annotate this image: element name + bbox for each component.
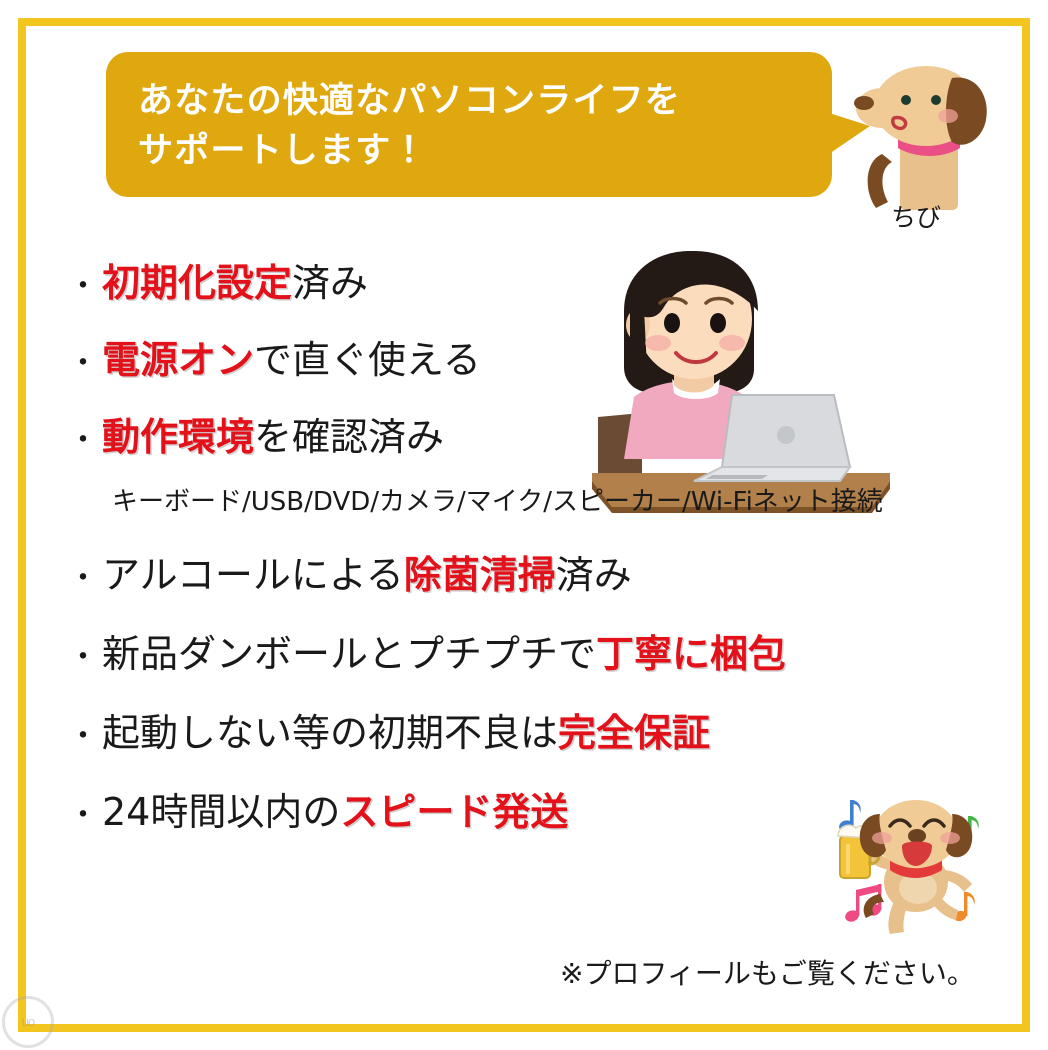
bullet-highlight: 丁寧に梱包 [596, 632, 786, 676]
bullet-plain-after: で直ぐ使える [254, 338, 481, 382]
bullet-plain-after: 済み [556, 553, 632, 597]
bullet-marker: ・ [68, 790, 102, 834]
bullet-text: 動作環境を確認済み [102, 406, 444, 461]
bullet-text: 起動しない等の初期不良は完全保証 [102, 702, 710, 757]
bullet-plain-before: アルコールによる [102, 553, 404, 597]
compatibility-subnote: キーボード/USB/DVD/カメラ/マイク/スピーカー/Wi-Fiネット接続 [112, 481, 968, 518]
bullet-text: アルコールによる除菌清掃済み [102, 544, 632, 599]
headline-text: あなたの快適なパソコンライフを サポートします！ [138, 76, 802, 175]
bullet-text: 24時間以内のスピード発送 [102, 781, 568, 836]
bullet-marker: ・ [68, 553, 102, 597]
music-note-pink [844, 884, 883, 923]
bullet-text: 電源オンで直ぐ使える [102, 329, 481, 384]
profile-footer-note: ※プロフィールもご覧ください。 [560, 952, 975, 992]
promotional-image: uo あなたの快適なパソコンライフを サポートします！ [0, 0, 1048, 1050]
bullet-highlight: 動作環境 [102, 415, 254, 459]
bullet-plain-before: 起動しない等の初期不良は [102, 711, 558, 755]
bullet-marker: ・ [68, 711, 102, 755]
bullet-item-3: ・ 動作環境を確認済み [68, 406, 968, 461]
bullet-marker: ・ [68, 415, 102, 459]
bullet-item-2: ・ 電源オンで直ぐ使える [68, 329, 968, 384]
bullet-plain-before: 新品ダンボールとプチプチで [102, 632, 596, 676]
bullet-highlight: 除菌清掃 [404, 553, 556, 597]
bullet-highlight: 完全保証 [558, 711, 710, 755]
dancing-dog-illustration [824, 790, 1016, 945]
bullet-plain-after: を確認済み [254, 415, 444, 459]
corner-watermark: uo [2, 996, 54, 1048]
bullet-item-1: ・ 初期化設定済み [68, 252, 968, 307]
bullet-highlight: 初期化設定 [102, 261, 292, 305]
feature-bullet-list: ・ 初期化設定済み ・ 電源オンで直ぐ使える ・ 動作環境を確認済み キーボード… [68, 252, 968, 836]
bullet-marker: ・ [68, 632, 102, 676]
bullet-plain-before: 24時間以内の [102, 790, 340, 834]
bullet-marker: ・ [68, 338, 102, 382]
bullet-item-5: ・ 新品ダンボールとプチプチで丁寧に梱包 [68, 623, 968, 678]
chibi-dog-name-label: ちび [856, 198, 976, 234]
bullet-item-4: ・ アルコールによる除菌清掃済み [68, 544, 968, 599]
headline-speech-bubble: あなたの快適なパソコンライフを サポートします！ [106, 52, 832, 197]
bullet-plain-after: 済み [292, 261, 368, 305]
bullet-highlight: 電源オン [102, 338, 254, 382]
bullet-item-6: ・ 起動しない等の初期不良は完全保証 [68, 702, 968, 757]
bullet-marker: ・ [68, 261, 102, 305]
bullet-highlight: スピード発送 [340, 790, 568, 834]
bullet-text: 初期化設定済み [102, 252, 368, 307]
bullet-text: 新品ダンボールとプチプチで丁寧に梱包 [102, 623, 786, 678]
